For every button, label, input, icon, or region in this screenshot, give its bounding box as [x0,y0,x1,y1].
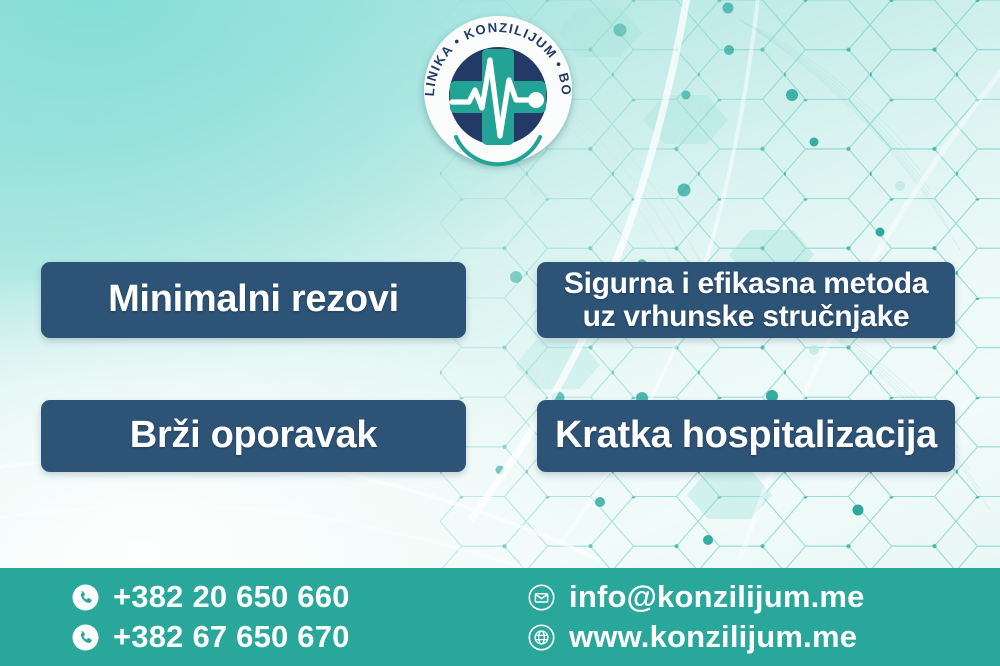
contact-website[interactable]: www.konzilijum.me [528,619,865,655]
feature-box-minimalni-rezovi: Minimalni rezovi [41,262,466,338]
contact-phone-primary[interactable]: +382 20 650 660 [72,579,522,615]
feature-label: Brži oporavak [130,415,377,456]
feature-label: Minimalni rezovi [108,279,399,320]
phone-icon [72,584,99,611]
contact-email[interactable]: info@konzilijum.me [528,579,865,615]
contact-text: www.konzilijum.me [569,619,857,655]
contact-text: +382 67 650 670 [113,619,350,655]
feature-label: Sigurna i efikasna metoda uz vrhunske st… [537,267,955,333]
company-logo: POLIKLINIKA • KONZILIJUM • BOLNICA [412,4,584,176]
contact-footer: +382 20 650 660 +382 67 650 670 [0,568,1000,666]
phone-icon [72,624,99,651]
feature-box-kratka-hospitalizacija: Kratka hospitalizacija [537,400,955,472]
footer-web-column: info@konzilijum.me www.konzilijum.me [528,579,865,655]
contact-phone-secondary[interactable]: +382 67 650 670 [72,619,522,655]
footer-phone-column: +382 20 650 660 +382 67 650 670 [72,579,522,655]
promotional-poster: POLIKLINIKA • KONZILIJUM • BOLNICA Minim… [0,0,1000,666]
feature-label: Kratka hospitalizacija [537,415,955,456]
feature-box-sigurna-metoda: Sigurna i efikasna metoda uz vrhunske st… [537,262,955,338]
contact-text: info@konzilijum.me [569,579,865,615]
contact-text: +382 20 650 660 [113,579,350,615]
globe-icon [528,624,555,651]
envelope-icon [528,584,555,611]
feature-box-brzi-oporavak: Brži oporavak [41,400,466,472]
